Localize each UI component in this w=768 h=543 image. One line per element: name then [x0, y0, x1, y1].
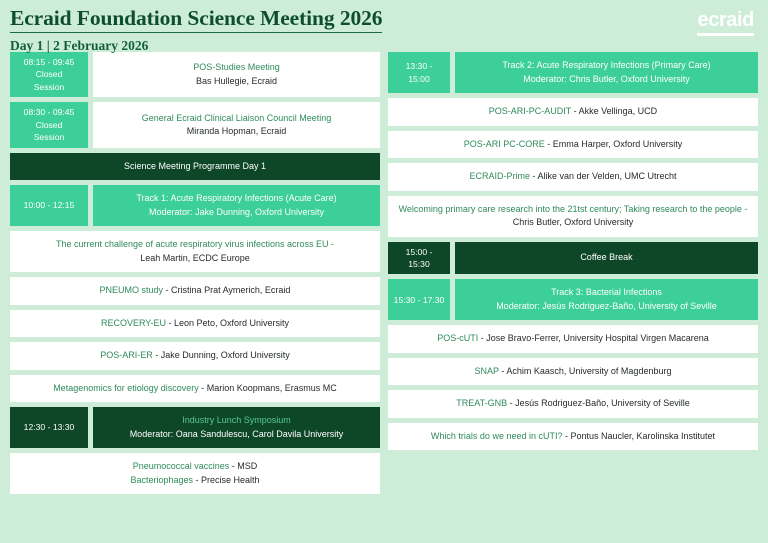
session-time: 08:15 - 09:45ClosedSession [10, 52, 88, 97]
speaker-name: - Emma Harper, Oxford University [545, 139, 683, 149]
session-content: Industry Lunch SymposiumModerator: Oana … [93, 407, 380, 448]
time-line: 10:00 - 12:15 [24, 199, 75, 211]
agenda-item: Which trials do we need in cUTI? - Pontu… [388, 423, 758, 451]
speaker-name: - Jake Dunning, Oxford University [153, 350, 290, 360]
speaker-name: - Achim Kaasch, University of Magdenburg [499, 366, 672, 376]
speaker-name: - Precise Health [193, 475, 260, 485]
time-line: 12:30 - 13:30 [24, 421, 75, 433]
programme-banner: Science Meeting Programme Day 1 [10, 153, 380, 181]
row-text-line: Moderator: Jake Dunning, Oxford Universi… [149, 206, 324, 220]
agenda-item: POS-ARI-PC-AUDIT - Akke Vellinga, UCD [388, 98, 758, 126]
agenda-row: 13:30 -15:00Track 2: Acute Respiratory I… [388, 52, 758, 93]
agenda-columns: 08:15 - 09:45ClosedSessionPOS-Studies Me… [0, 52, 768, 494]
row-text-line: POS-Studies Meeting [193, 61, 280, 75]
row-text-line: POS-ARI-ER - Jake Dunning, Oxford Univer… [100, 349, 290, 363]
agenda-item: ECRAID-Prime - Alike van der Velden, UMC… [388, 163, 758, 191]
time-line: 08:15 - 09:45 [24, 56, 75, 68]
row-text-line: Pneumococcal vaccines - MSD [133, 460, 258, 474]
agenda-item: Metagenomics for etiology discovery - Ma… [10, 375, 380, 403]
row-text-line: Leah Martin, ECDC Europe [140, 252, 250, 266]
study-name: TREAT-GNB [456, 398, 507, 408]
row-text-line: Chris Butler, Oxford University [513, 216, 634, 230]
agenda-row: 15:00 -15:30Coffee Break [388, 242, 758, 275]
page-title: Ecraid Foundation Science Meeting 2026 [10, 7, 382, 33]
row-text-line: SNAP - Achim Kaasch, University of Magde… [475, 365, 672, 379]
row-title: Track 2: Acute Respiratory Infections (P… [502, 59, 710, 73]
row-title: Track 3: Bacterial Infections [551, 286, 662, 300]
time-line: 08:30 - 09:45 [24, 106, 75, 118]
row-text-line: The current challenge of acute respirato… [56, 238, 334, 252]
logo-underline [697, 33, 754, 36]
speaker-name: - Cristina Prat Aymerich, Ecraid [163, 285, 290, 295]
study-name: POS-ARI PC-CORE [464, 139, 545, 149]
row-text-line: General Ecraid Clinical Liaison Council … [142, 112, 332, 126]
session-content: Track 3: Bacterial InfectionsModerator: … [455, 279, 758, 320]
session-content: Coffee Break [455, 242, 758, 275]
speaker-name: - Leon Peto, Oxford University [166, 318, 289, 328]
speaker-name: - Pontus Naucler, Karolinska Institutet [562, 431, 715, 441]
row-text-line: RECOVERY-EU - Leon Peto, Oxford Universi… [101, 317, 289, 331]
time-line: Session [34, 81, 65, 93]
speaker-name: - Akke Vellinga, UCD [571, 106, 657, 116]
row-text-line: Moderator: Jesús Rodriguez-Baño, Univers… [496, 300, 717, 314]
row-text-line: Which trials do we need in cUTI? - Pontu… [431, 430, 715, 444]
agenda-item: SNAP - Achim Kaasch, University of Magde… [388, 358, 758, 386]
session-content: Track 1: Acute Respiratory Infections (A… [93, 185, 380, 226]
time-line: 15:00 - [406, 246, 433, 258]
speaker-name: - MSD [229, 461, 257, 471]
speaker-name: - Alike van der Velden, UMC Utrecht [530, 171, 677, 181]
study-name: Metagenomics for etiology discovery [53, 383, 199, 393]
agenda-item: Welcoming primary care research into the… [388, 196, 758, 237]
speaker-name: - Jose Bravo-Ferrer, University Hospital… [478, 333, 708, 343]
session-content: POS-Studies MeetingBas Hullegie, Ecraid [93, 52, 380, 97]
agenda-item: POS-ARI PC-CORE - Emma Harper, Oxford Un… [388, 131, 758, 159]
study-name: PNEUMO study [100, 285, 164, 295]
row-title: Track 1: Acute Respiratory Infections (A… [136, 192, 336, 206]
study-name: SNAP [475, 366, 499, 376]
row-text-line: TREAT-GNB - Jesús Rodriguez-Baño, Univer… [456, 397, 689, 411]
speaker-name: - Jesús Rodriguez-Baño, University of Se… [507, 398, 690, 408]
session-content: Track 2: Acute Respiratory Infections (P… [455, 52, 758, 93]
page-header: Ecraid Foundation Science Meeting 2026 D… [0, 0, 768, 52]
speaker-name: - Marion Koopmans, Erasmus MC [199, 383, 337, 393]
study-name: Pneumococcal vaccines [133, 461, 230, 471]
page-subtitle: Day 1 | 2 February 2026 [10, 39, 756, 54]
row-text-line: Metagenomics for etiology discovery - Ma… [53, 382, 337, 396]
session-time: 15:30 - 17.30 [388, 279, 450, 320]
agenda-row: 08:15 - 09:45ClosedSessionPOS-Studies Me… [10, 52, 380, 97]
study-name: POS-ARI-ER [100, 350, 153, 360]
row-text-line: PNEUMO study - Cristina Prat Aymerich, E… [100, 284, 291, 298]
session-time: 08:30 - 09:45ClosedSession [10, 102, 88, 147]
row-text-line: Bas Hullegie, Ecraid [196, 75, 277, 89]
time-line: 13:30 - [406, 60, 433, 72]
row-title: Industry Lunch Symposium [182, 414, 291, 428]
agenda-page: Ecraid Foundation Science Meeting 2026 D… [0, 0, 768, 543]
agenda-item: Pneumococcal vaccines - MSDBacteriophage… [10, 453, 380, 494]
ecraid-logo: ecraid [697, 10, 754, 36]
agenda-item: POS-ARI-ER - Jake Dunning, Oxford Univer… [10, 342, 380, 370]
agenda-row: 15:30 - 17.30Track 3: Bacterial Infectio… [388, 279, 758, 320]
agenda-item: POS-cUTI - Jose Bravo-Ferrer, University… [388, 325, 758, 353]
time-line: Session [34, 131, 65, 143]
logo-wordmark: ecraid [697, 10, 754, 30]
agenda-item: RECOVERY-EU - Leon Peto, Oxford Universi… [10, 310, 380, 338]
agenda-row: 10:00 - 12:15Track 1: Acute Respiratory … [10, 185, 380, 226]
time-line: Closed [36, 119, 63, 131]
session-time: 13:30 -15:00 [388, 52, 450, 93]
row-text-line: Science Meeting Programme Day 1 [20, 160, 370, 174]
agenda-row: 12:30 - 13:30Industry Lunch SymposiumMod… [10, 407, 380, 448]
agenda-item: The current challenge of acute respirato… [10, 231, 380, 272]
time-line: Closed [36, 68, 63, 80]
study-name: RECOVERY-EU [101, 318, 166, 328]
time-line: 15:00 [408, 73, 430, 85]
time-line: 15:30 - 17.30 [394, 294, 445, 306]
study-name: Bacteriophages [130, 475, 193, 485]
row-text-line: Bacteriophages - Precise Health [130, 474, 259, 488]
session-time: 10:00 - 12:15 [10, 185, 88, 226]
row-text-line: Moderator: Oana Sandulescu, Carol Davila… [130, 428, 344, 442]
time-line: 15:30 [408, 258, 430, 270]
study-name: POS-ARI-PC-AUDIT [489, 106, 571, 116]
row-text-line: POS-ARI PC-CORE - Emma Harper, Oxford Un… [464, 138, 683, 152]
row-text-line: ECRAID-Prime - Alike van der Velden, UMC… [469, 170, 676, 184]
row-text-line: POS-cUTI - Jose Bravo-Ferrer, University… [437, 332, 708, 346]
row-text-line: Miranda Hopman, Ecraid [187, 125, 287, 139]
session-time: 15:00 -15:30 [388, 242, 450, 275]
session-time: 12:30 - 13:30 [10, 407, 88, 448]
study-name: POS-cUTI [437, 333, 478, 343]
agenda-item: TREAT-GNB - Jesús Rodriguez-Baño, Univer… [388, 390, 758, 418]
agenda-row: 08:30 - 09:45ClosedSessionGeneral Ecraid… [10, 102, 380, 147]
study-name: Which trials do we need in cUTI? [431, 431, 563, 441]
agenda-item: PNEUMO study - Cristina Prat Aymerich, E… [10, 277, 380, 305]
row-text-line: Coffee Break [580, 251, 632, 265]
study-name: ECRAID-Prime [469, 171, 530, 181]
agenda-column-left: 08:15 - 09:45ClosedSessionPOS-Studies Me… [10, 52, 380, 494]
row-text-line: POS-ARI-PC-AUDIT - Akke Vellinga, UCD [489, 105, 657, 119]
agenda-column-right: 13:30 -15:00Track 2: Acute Respiratory I… [388, 52, 758, 450]
row-text-line: Moderator: Chris Butler, Oxford Universi… [523, 73, 690, 87]
session-content: General Ecraid Clinical Liaison Council … [93, 102, 380, 147]
row-text-line: Welcoming primary care research into the… [399, 203, 748, 217]
